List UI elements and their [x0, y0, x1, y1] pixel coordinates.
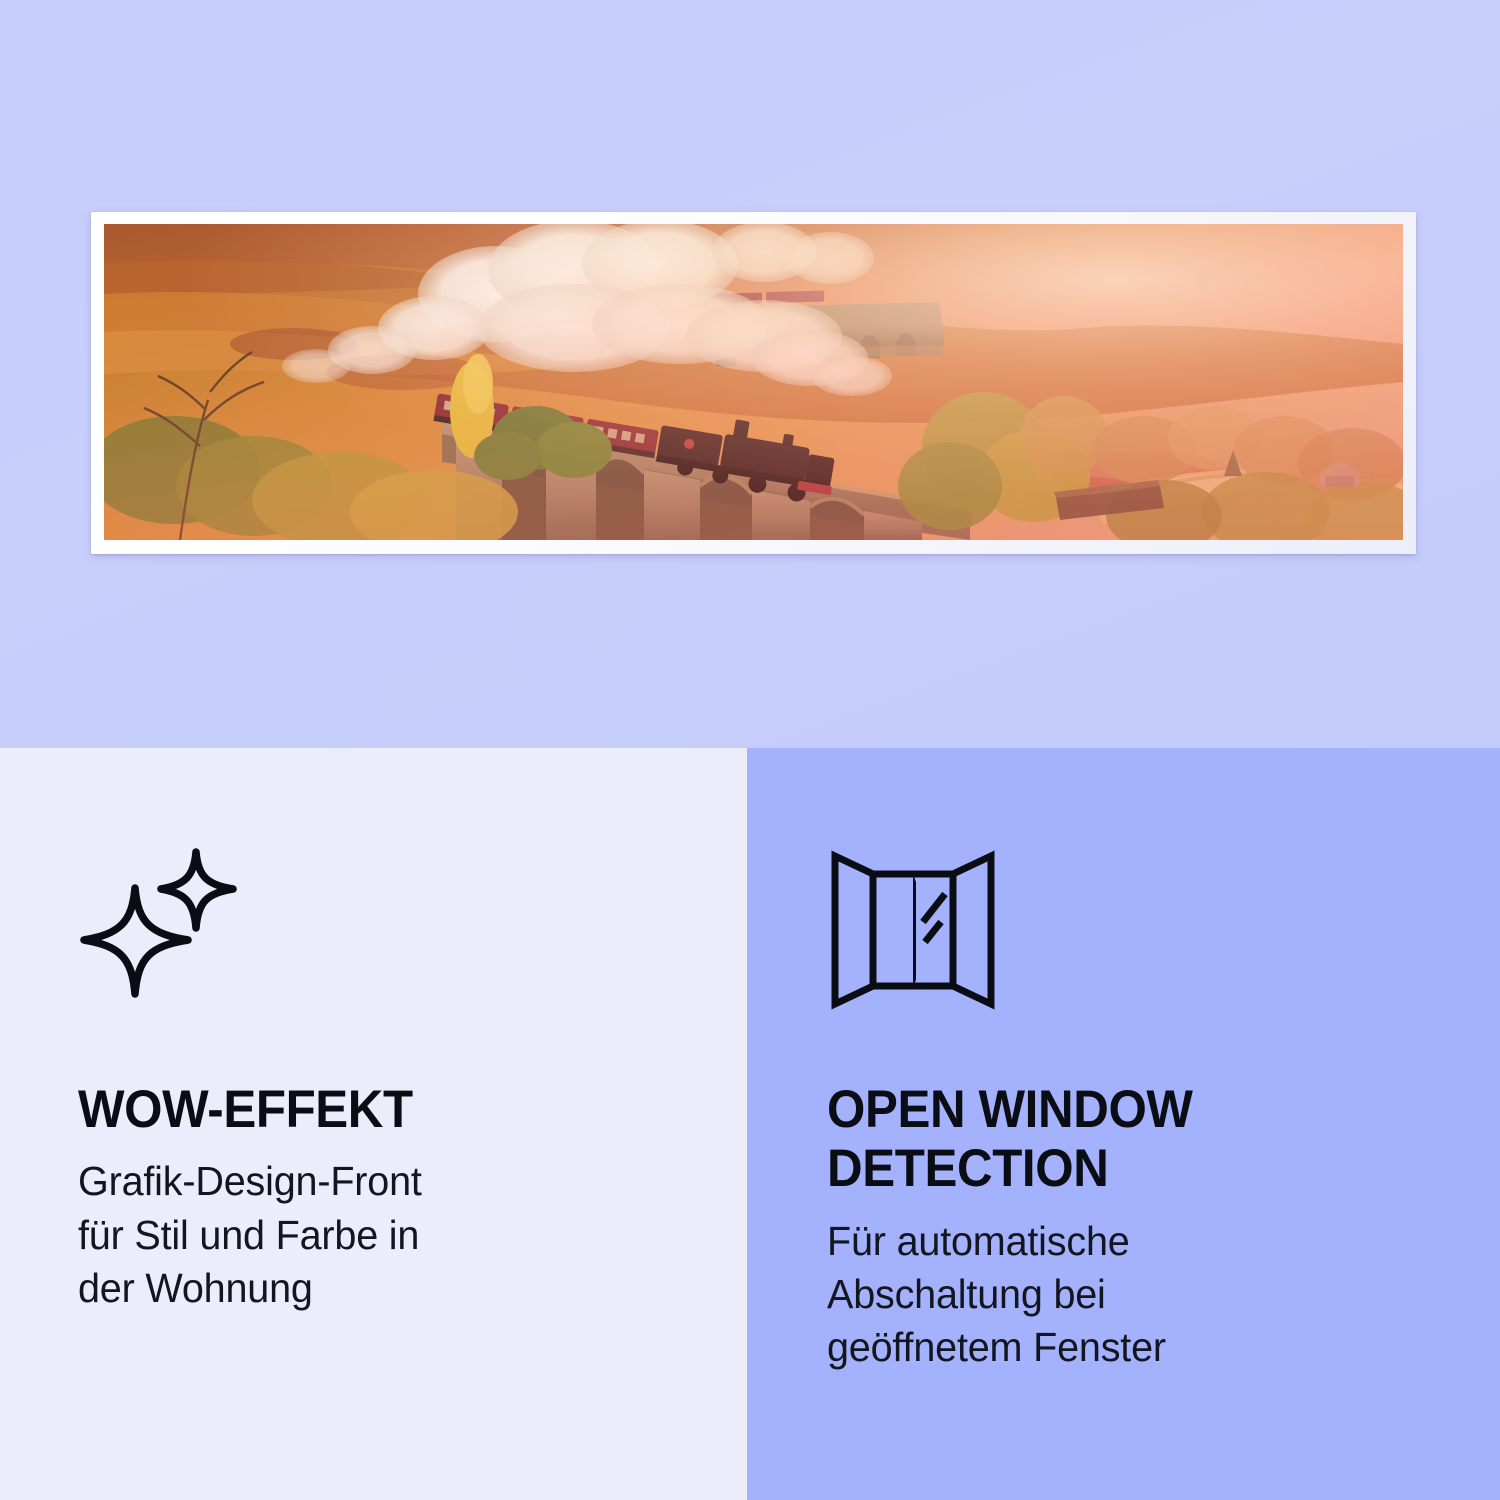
hero-section: [0, 0, 1500, 748]
feature-title-open-window-detection: OPEN WINDOW DETECTION: [827, 1080, 1348, 1199]
picture-frame: [91, 212, 1416, 554]
open-window-icon: [827, 844, 999, 1016]
feature-card-wow-effekt: WOW-EFFEKT Grafik-Design-Front für Stil …: [0, 748, 747, 1500]
steam-train-landscape-illustration: [104, 224, 1403, 540]
feature-body-open-window-detection: Für automatische Abschaltung bei geöffne…: [827, 1215, 1348, 1375]
feature-body-wow-effekt: Grafik-Design-Front für Stil und Farbe i…: [78, 1155, 580, 1315]
artwork-image: [104, 224, 1403, 540]
feature-card-open-window-detection: OPEN WINDOW DETECTION Für automatische A…: [747, 748, 1500, 1500]
sparkle-icon: [78, 844, 246, 1016]
product-feature-infographic: WOW-EFFEKT Grafik-Design-Front für Stil …: [0, 0, 1500, 1500]
feature-title-wow-effekt: WOW-EFFEKT: [78, 1080, 700, 1139]
feature-cards: WOW-EFFEKT Grafik-Design-Front für Stil …: [0, 748, 1500, 1500]
